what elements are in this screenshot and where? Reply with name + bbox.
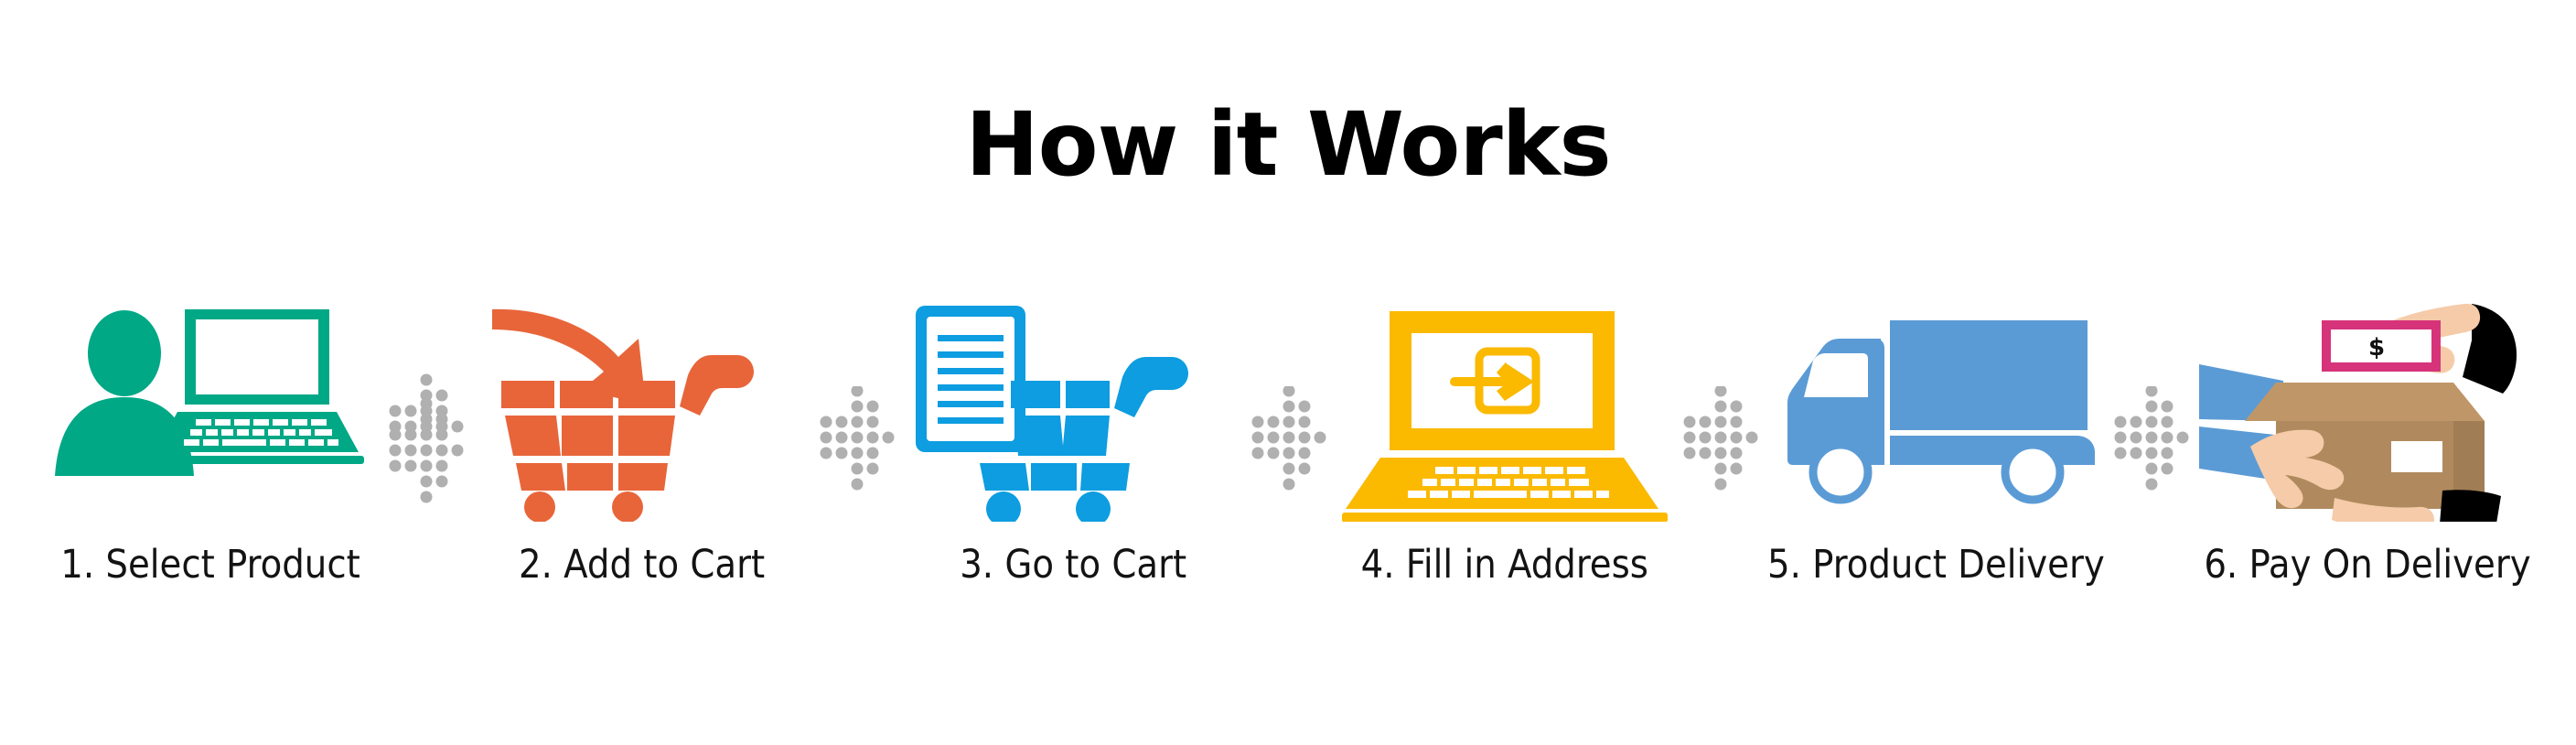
hands-exchanging-box-and-money-icon: $ bbox=[2197, 302, 2538, 522]
step-5-label: 5. Product Delivery bbox=[1766, 542, 2106, 588]
how-it-works-infographic: How it Works bbox=[0, 0, 2576, 745]
document-with-cart-icon bbox=[903, 302, 1243, 522]
dotted-arrow-right-icon bbox=[384, 302, 468, 641]
step-3-label: 3. Go to Cart bbox=[903, 542, 1243, 588]
dotted-arrow-right-icon bbox=[1679, 302, 1763, 641]
dotted-arrow-right-icon bbox=[1247, 302, 1331, 641]
dotted-arrow-right-icon bbox=[815, 302, 899, 641]
step-5-product-delivery[interactable]: 5. Product Delivery bbox=[1766, 302, 2106, 641]
person-with-laptop-icon bbox=[40, 302, 381, 522]
dotted-arrow-right-icon bbox=[2109, 302, 2194, 641]
step-1-select-product[interactable]: 1. Select Product bbox=[40, 302, 381, 641]
step-2-add-to-cart[interactable]: 2. Add to Cart bbox=[472, 302, 812, 641]
money-note: $ bbox=[2322, 320, 2441, 372]
steps-strip: 1. Select Product bbox=[40, 302, 2538, 641]
money-note-symbol: $ bbox=[2368, 334, 2385, 362]
shopping-cart-with-arrow-icon bbox=[472, 302, 812, 522]
step-3-go-to-cart[interactable]: 3. Go to Cart bbox=[903, 302, 1243, 641]
step-4-label: 4. Fill in Address bbox=[1335, 542, 1675, 588]
step-6-pay-on-delivery[interactable]: $ bbox=[2197, 302, 2538, 641]
delivery-truck-icon bbox=[1766, 302, 2106, 522]
step-6-label: 6. Pay On Delivery bbox=[2197, 542, 2538, 588]
step-4-fill-in-address[interactable]: 4. Fill in Address bbox=[1335, 302, 1675, 641]
page-title: How it Works bbox=[0, 99, 2576, 190]
step-1-label: 1. Select Product bbox=[40, 542, 381, 588]
laptop-with-login-arrow-icon bbox=[1335, 302, 1675, 522]
step-2-label: 2. Add to Cart bbox=[472, 542, 812, 588]
